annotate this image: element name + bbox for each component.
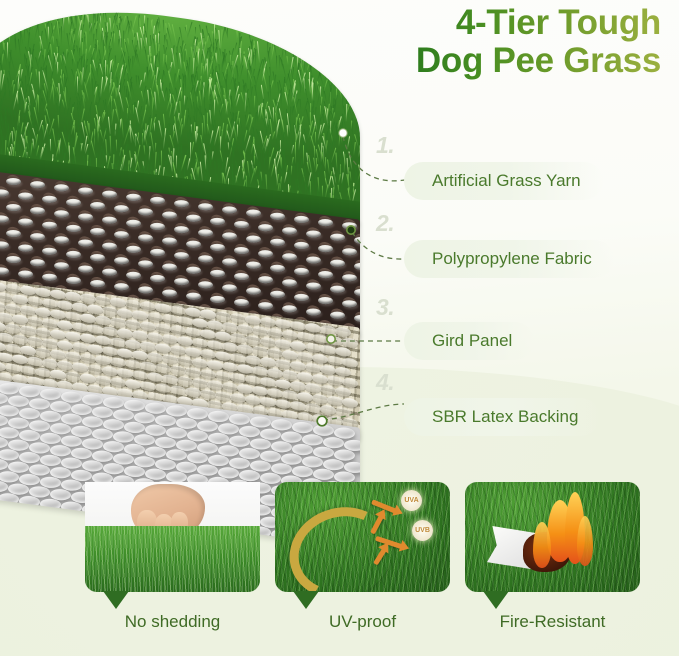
callout-label-1: Artificial Grass Yarn	[404, 162, 603, 200]
callout-3[interactable]: 3. Gird Panel	[404, 322, 534, 360]
bubble-tail-1	[103, 591, 129, 609]
title-line-2: Dog Pee Grass	[416, 42, 661, 80]
feature-label-2: UV-proof	[275, 612, 450, 632]
feature-label-1: No shedding	[85, 612, 260, 632]
page-title: 4-Tier Tough Dog Pee Grass	[416, 4, 661, 80]
bubble-tail-2	[293, 591, 319, 609]
uv-proof-photo: UVA UVB	[275, 482, 450, 592]
uvb-badge: UVB	[412, 520, 433, 541]
callout-number-1: 1.	[376, 132, 394, 159]
feature-label-3: Fire-Resistant	[465, 612, 640, 632]
feature-bubble-1	[85, 482, 260, 592]
feature-bubble-2: UVA UVB	[275, 482, 450, 592]
feature-card-uv-proof[interactable]: UVA UVB UV-proof	[275, 482, 450, 592]
callout-1[interactable]: 1. Artificial Grass Yarn	[404, 162, 603, 200]
callout-label-3: Gird Panel	[404, 322, 534, 360]
feature-cards: No shedding UVA UVB UV-proof	[0, 478, 679, 656]
layer-stack-illustration	[0, 0, 412, 500]
fire-resistant-photo	[465, 482, 640, 592]
uva-badge: UVA	[401, 490, 422, 511]
title-line-1: 4-Tier Tough	[456, 3, 661, 42]
callout-number-4: 4.	[376, 369, 394, 396]
infographic-root: 4-Tier Tough Dog Pee Grass 1. Artificial…	[0, 0, 679, 656]
callout-number-2: 2.	[376, 210, 394, 237]
feature-card-no-shedding[interactable]: No shedding	[85, 482, 260, 592]
callout-label-4: SBR Latex Backing	[404, 398, 600, 436]
callout-label-2: Polypropylene Fabric	[404, 240, 614, 278]
feature-bubble-3	[465, 482, 640, 592]
callout-number-3: 3.	[376, 294, 394, 321]
callout-4[interactable]: 4. SBR Latex Backing	[404, 398, 600, 436]
grass-tuft	[85, 526, 260, 592]
no-shedding-photo	[85, 482, 260, 592]
feature-card-fire-resistant[interactable]: Fire-Resistant	[465, 482, 640, 592]
callout-2[interactable]: 2. Polypropylene Fabric	[404, 240, 614, 278]
bubble-tail-3	[483, 591, 509, 609]
